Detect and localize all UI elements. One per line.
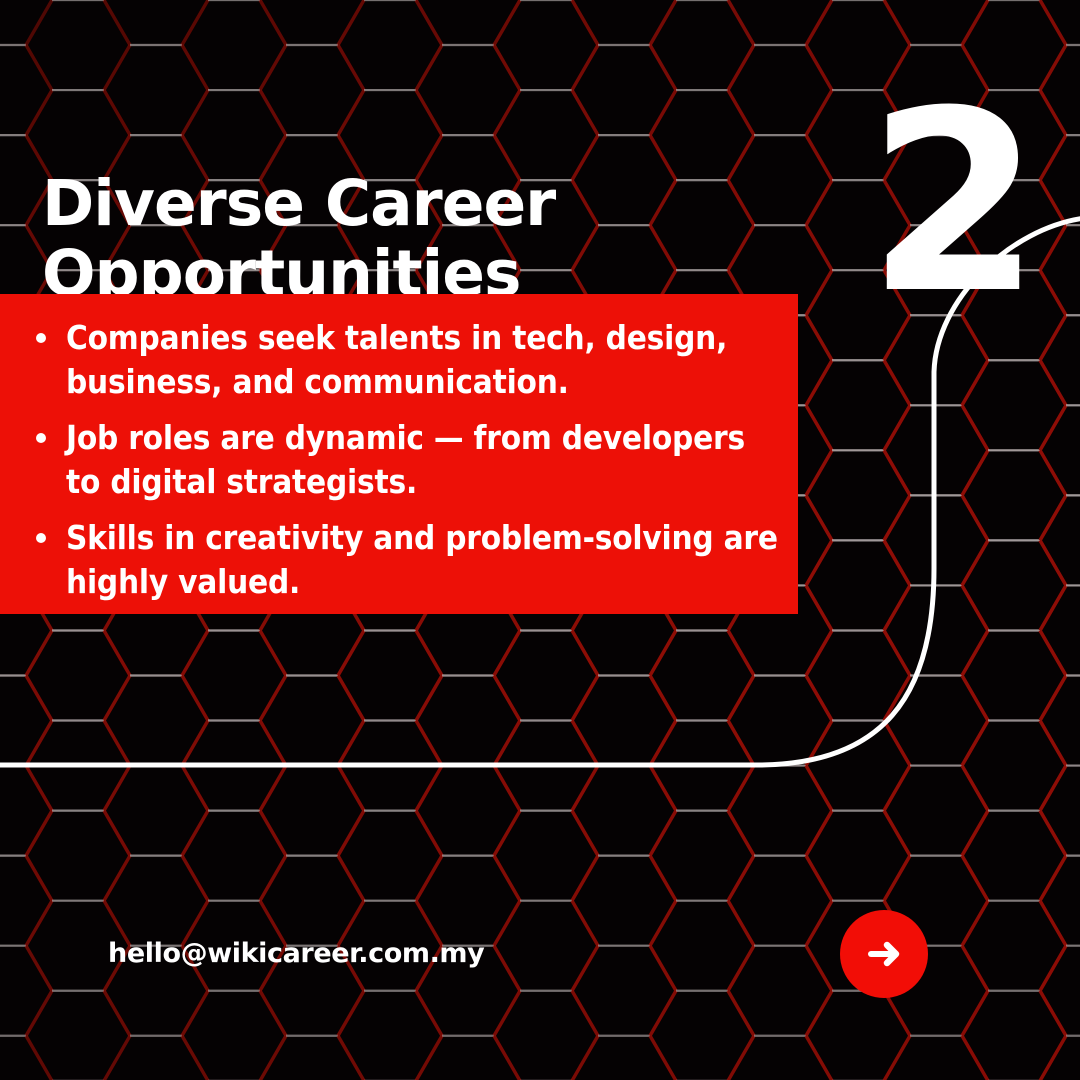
list-item-text: Skills in creativity and problem-solving… — [66, 518, 778, 601]
slide-canvas: 2 Diverse Career Opportunities Companies… — [0, 0, 1080, 1080]
bullet-list: Companies seek talents in tech, design, … — [30, 316, 784, 604]
list-item: Companies seek talents in tech, design, … — [30, 316, 784, 404]
bullet-panel: Companies seek talents in tech, design, … — [0, 294, 798, 614]
page-title: Diverse Career Opportunities — [42, 169, 742, 309]
list-item-text: Companies seek talents in tech, design, … — [66, 318, 727, 401]
bullet-dot-icon — [36, 333, 46, 343]
list-item-text: Job roles are dynamic — from developers … — [66, 418, 745, 501]
next-button[interactable] — [840, 910, 928, 998]
bullet-dot-icon — [36, 533, 46, 543]
arrow-right-icon — [861, 931, 907, 977]
step-number: 2 — [856, 88, 1046, 318]
list-item: Skills in creativity and problem-solving… — [30, 516, 784, 604]
bullet-dot-icon — [36, 433, 46, 443]
list-item: Job roles are dynamic — from developers … — [30, 416, 784, 504]
contact-email: hello@wikicareer.com.my — [108, 937, 484, 971]
